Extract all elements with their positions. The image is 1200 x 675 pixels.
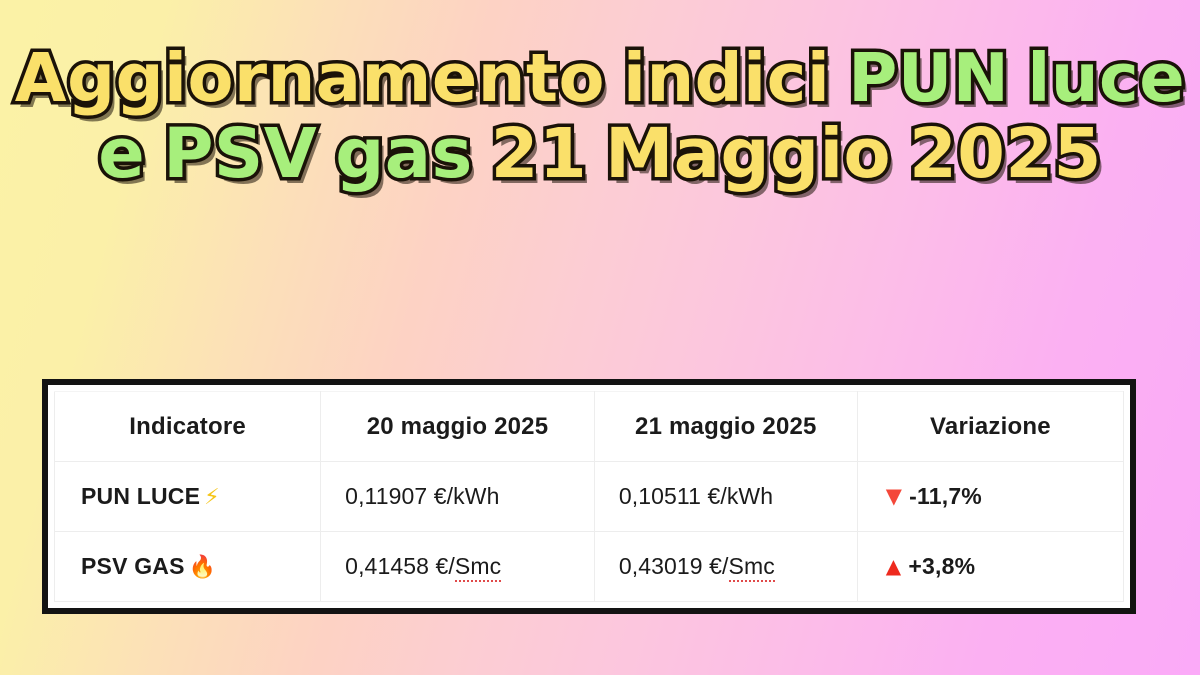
variation-value: +3,8% — [908, 553, 975, 579]
table-header-row: Indicatore 20 maggio 2025 21 maggio 2025… — [55, 392, 1124, 462]
variation-value: -11,7% — [909, 483, 982, 509]
title-word: Maggio — [605, 121, 891, 187]
value-current-psv-number: 0,43019 €/ — [619, 553, 729, 579]
rates-table-container: Indicatore 20 maggio 2025 21 maggio 2025… — [42, 379, 1136, 614]
title-word: Aggiornamento — [15, 46, 605, 111]
value-previous-psv-number: 0,41458 €/ — [345, 553, 455, 579]
value-current-psv: 0,43019 €/Smc — [594, 532, 857, 602]
title-word: gas — [335, 121, 473, 187]
column-header-date-current: 21 maggio 2025 — [594, 392, 857, 462]
title-word: PSV — [163, 121, 317, 187]
title-word: e — [98, 121, 145, 187]
value-previous-psv-unit: Smc — [455, 553, 501, 582]
title-line-1: AggiornamentoindiciPUNluce — [0, 46, 1200, 111]
indicator-name: PUN LUCE — [81, 483, 200, 509]
title-line-2: ePSVgas21Maggio2025 — [0, 121, 1200, 187]
triangle-up-icon: ▲ — [886, 554, 909, 578]
value-current-psv-unit: Smc — [729, 553, 775, 582]
rates-table: Indicatore 20 maggio 2025 21 maggio 2025… — [54, 391, 1124, 602]
row-label-pun-luce: PUN LUCE⚡ — [55, 462, 321, 532]
title-word: 21 — [491, 121, 587, 187]
table-row: PSV GAS🔥 0,41458 €/Smc 0,43019 €/Smc ▲+3… — [55, 532, 1124, 602]
value-current-pun: 0,10511 €/kWh — [594, 462, 857, 532]
column-header-date-previous: 20 maggio 2025 — [321, 392, 595, 462]
value-previous-psv: 0,41458 €/Smc — [321, 532, 595, 602]
title-word: 2025 — [909, 121, 1102, 187]
variation-pun: ▼-11,7% — [857, 462, 1123, 532]
triangle-down-icon: ▼ — [886, 484, 909, 508]
flame-icon: 🔥 — [185, 555, 217, 580]
column-header-indicator: Indicatore — [55, 392, 321, 462]
title-word: indici — [623, 46, 830, 111]
column-header-variation: Variazione — [857, 392, 1123, 462]
indicator-name: PSV GAS — [81, 553, 185, 579]
table-row: PUN LUCE⚡ 0,11907 €/kWh 0,10511 €/kWh ▼-… — [55, 462, 1124, 532]
row-label-psv-gas: PSV GAS🔥 — [55, 532, 321, 602]
poster-canvas: AggiornamentoindiciPUNluce ePSVgas21Magg… — [0, 0, 1200, 675]
value-previous-pun: 0,11907 €/kWh — [321, 462, 595, 532]
title-word: PUN — [848, 46, 1009, 111]
variation-psv: ▲+3,8% — [857, 532, 1123, 602]
poster-title: AggiornamentoindiciPUNluce ePSVgas21Magg… — [0, 46, 1200, 187]
title-word: luce — [1027, 46, 1185, 111]
bolt-icon: ⚡ — [200, 485, 220, 510]
